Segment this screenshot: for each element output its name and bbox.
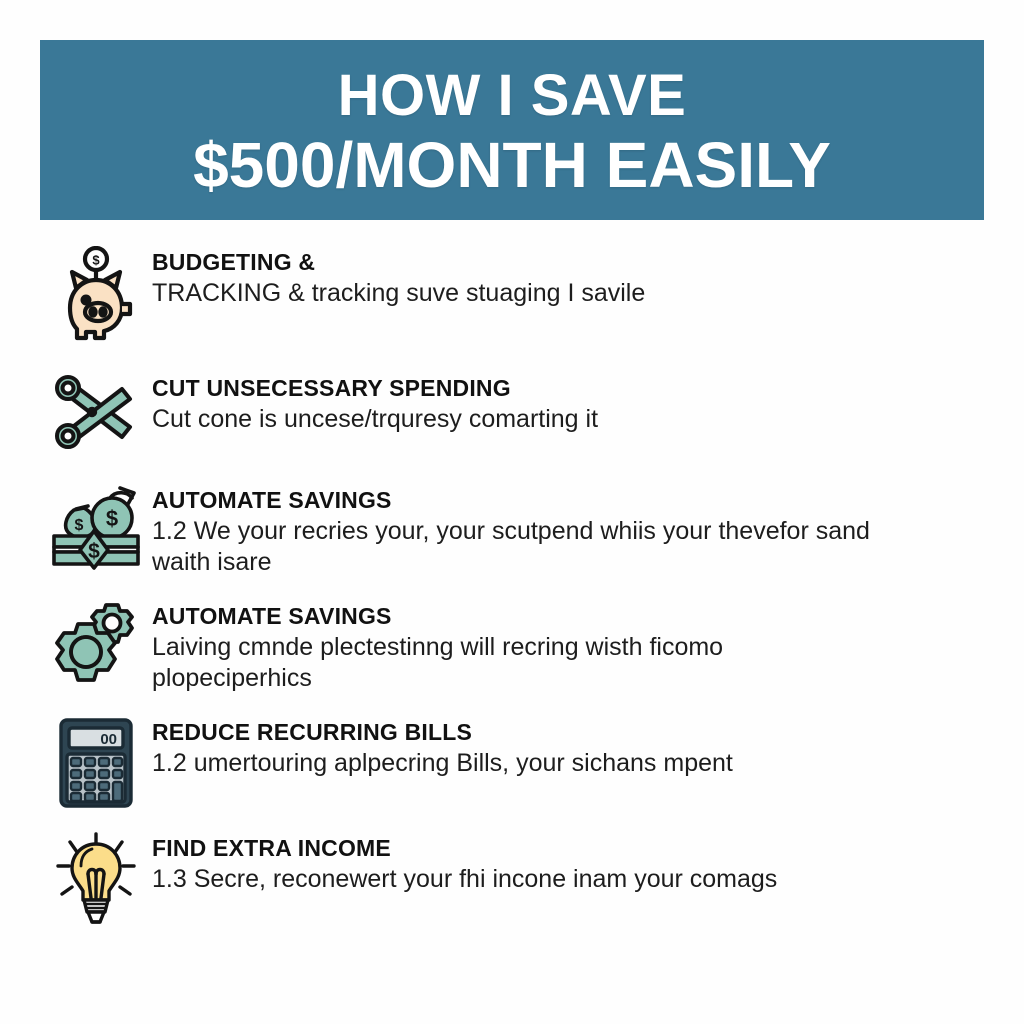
tip-description: TRACKING & tracking suve stuaging I savi… (152, 278, 882, 310)
tip-heading: FIND EXTRA INCOME (152, 836, 984, 862)
svg-text:$: $ (75, 517, 84, 534)
calculator-display-value: 00 (100, 731, 117, 748)
tip-heading: AUTOMATE SAVINGS (152, 488, 984, 514)
tip-description: 1.3 Secre, reconewert your fhi incone in… (152, 864, 882, 896)
infographic-page: HOW I SAVE $500/MONTH EASILY $ (0, 0, 1024, 1024)
tip-text-block: FIND EXTRA INCOME 1.3 Secre, reconewert … (152, 824, 984, 895)
tip-description: 1.2 We your recries your, your scutpend … (152, 516, 882, 579)
list-item: FIND EXTRA INCOME 1.3 Secre, reconewert … (40, 824, 984, 934)
svg-text:$: $ (88, 540, 100, 563)
calculator-icon: 00 (40, 708, 152, 812)
tip-text-block: AUTOMATE SAVINGS Laiving cmnde plectesti… (152, 592, 984, 695)
tip-text-block: CUT UNSECESSARY SPENDING Cut cone is unc… (152, 364, 984, 435)
list-item: CUT UNSECESSARY SPENDING Cut cone is unc… (40, 364, 984, 468)
money-stack-icon: $ $ $ (40, 476, 152, 580)
tips-list: $ (40, 238, 984, 934)
tip-heading: CUT UNSECESSARY SPENDING (152, 376, 984, 402)
tip-description: Cut cone is uncese/trquresy comarting it (152, 404, 882, 436)
tip-text-block: AUTOMATE SAVINGS 1.2 We your recries you… (152, 476, 984, 579)
tip-text-block: REDUCE RECURRING BILLS 1.2 umertouring a… (152, 708, 984, 779)
gears-icon (40, 592, 152, 696)
scissors-icon (40, 364, 152, 468)
tip-heading: REDUCE RECURRING BILLS (152, 720, 984, 746)
piggy-bank-icon: $ (40, 238, 152, 342)
list-item: AUTOMATE SAVINGS Laiving cmnde plectesti… (40, 592, 984, 702)
svg-text:$: $ (106, 506, 118, 531)
tip-description: Laiving cmnde plectestinng will recring … (152, 632, 882, 695)
header-banner: HOW I SAVE $500/MONTH EASILY (40, 40, 984, 220)
page-title-line-2: $500/MONTH EASILY (193, 133, 831, 197)
list-item: $ (40, 238, 984, 348)
tip-heading: BUDGETING & (152, 250, 984, 276)
list-item: 00 (40, 708, 984, 818)
list-item: $ $ $ (40, 476, 984, 586)
page-title-line-1: HOW I SAVE (338, 67, 687, 125)
lightbulb-icon (40, 824, 152, 928)
tip-text-block: BUDGETING & TRACKING & tracking suve stu… (152, 238, 984, 309)
tip-heading: AUTOMATE SAVINGS (152, 604, 984, 630)
tip-description: 1.2 umertouring aplpecring Bills, your s… (152, 748, 882, 780)
svg-text:$: $ (92, 253, 100, 268)
